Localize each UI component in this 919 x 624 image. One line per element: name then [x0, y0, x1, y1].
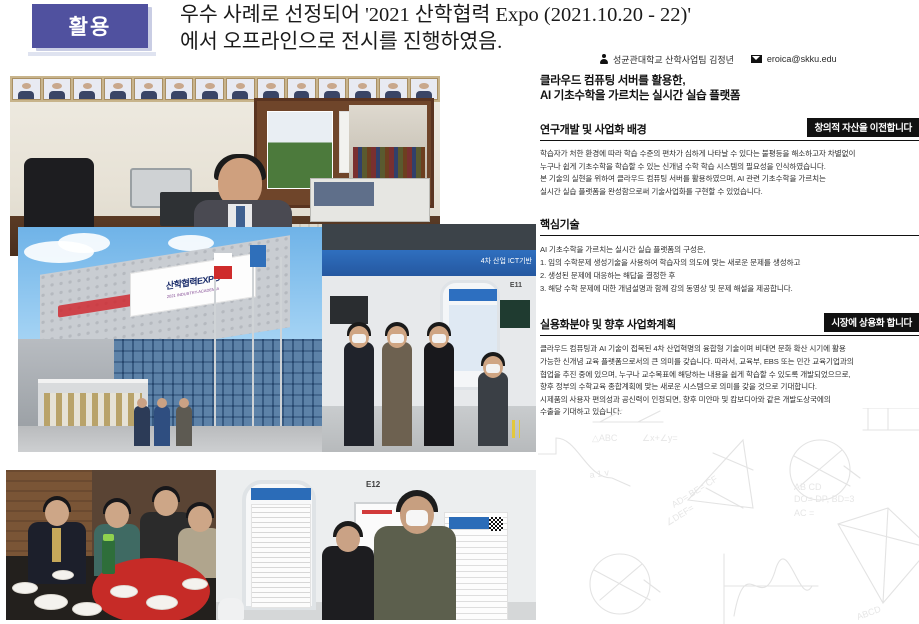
report-title-line2: AI 기초수학을 가르치는 실시간 실습 플랫폼 — [540, 89, 919, 104]
body-line: 1. 임의 수학문제 생성기술을 사용하여 학습자의 의도에 맞는 새로운 문제… — [540, 256, 919, 269]
body-line: 가능한 신개념 교육 플랫폼으로서의 큰 의미를 갖습니다. 따라서, 교육부,… — [540, 356, 919, 369]
exhibition-booth-photo: 4차 산업 ICT기반 E11 — [322, 224, 536, 452]
section-rule — [540, 235, 919, 236]
section-core-technology: 핵심기술 AI 기초수학을 가르치는 실시간 실습 플랫폼의 구성은, 1. 임… — [540, 216, 919, 295]
body-line: 2. 생성된 문제에 대응하는 해답을 결정한 후 — [540, 269, 919, 282]
section-body: 클라우드 컴퓨팅과 AI 기술이 접목된 4차 산업혁명의 융합형 기술이며 비… — [540, 343, 919, 419]
section-title: 실용화분야 및 향후 사업화계획 — [540, 316, 676, 332]
section-background: 연구개발 및 사업화 배경 창의적 자산을 이전합니다 학습자가 처한 환경에 … — [540, 118, 919, 198]
body-line: 실시간 실습 플랫폼을 완성함으로써 기술사업화를 구현할 수 있었습니다. — [540, 186, 919, 199]
section-commercialization: 실용화분야 및 향후 사업화계획 시장에 상용화 합니다 클라우드 컴퓨팅과 A… — [540, 313, 919, 419]
mail-icon — [751, 55, 762, 63]
photo-collage: 산학협력EXPO 2021 INDUSTRY-ACADEMIA 4차 산업 IC… — [0, 72, 536, 624]
badge-underline — [28, 52, 156, 56]
body-line: 수출을 기대하고 있습니다. — [540, 406, 919, 419]
section-rule — [540, 140, 919, 141]
section-body: AI 기초수학을 가르치는 실시간 실습 플랫폼의 구성은, 1. 임의 수학문… — [540, 243, 919, 295]
dinner-photo — [6, 470, 218, 620]
report-title: 클라우드 컴퓨팅 서버를 활용한, AI 기초수학을 가르치는 실시간 실습 플… — [540, 74, 919, 104]
poster-page: 활용 우수 사례로 선정되어 '2021 산학협력 Expo (2021.10.… — [0, 0, 919, 624]
section-tag: 창의적 자산을 이전합니다 — [807, 118, 919, 137]
body-line: 3. 해당 수학 문제에 대한 개념설명과 함께 강의 동영상 및 문제 해설을… — [540, 282, 919, 295]
page-title: 우수 사례로 선정되어 '2021 산학협력 Expo (2021.10.20 … — [180, 2, 800, 56]
body-line: 협업을 추진 중에 있으며, 누구나 교수목표에 해당하는 내용을 쉽게 학습할… — [540, 369, 919, 382]
booth-label-e12: E12 — [366, 480, 380, 489]
page-title-line1: 우수 사례로 선정되어 '2021 산학협력 Expo (2021.10.20 … — [180, 4, 691, 26]
section-rule — [540, 335, 919, 336]
report-title-line1: 클라우드 컴퓨팅 서버를 활용한, — [540, 74, 919, 89]
byline: 성균관대학교 산학사업팀 김정년 eroica@skku.edu — [600, 52, 915, 66]
byline-email: eroica@skku.edu — [767, 54, 837, 64]
booth-display-photo: E12 — [216, 470, 536, 620]
body-line: 학습자가 처한 환경에 따라 학습 수준의 편차가 심하게 나타날 수 있다는 … — [540, 148, 919, 161]
body-line: 누구나 쉽게 기초수학을 학습할 수 있는 신개념 수학 학습 시스템의 필요성… — [540, 161, 919, 174]
section-title: 핵심기술 — [540, 216, 579, 232]
body-line: 본 기술의 실현을 위하여 클라우드 컴퓨팅 서버를 활용하였으며, AI 관련… — [540, 173, 919, 186]
body-line: 시제품의 사용자 편의성과 공신력이 인정되면, 향후 미얀마 및 캄보디아와 … — [540, 394, 919, 407]
section-body: 학습자가 처한 환경에 따라 학습 수준의 편차가 심하게 나타날 수 있다는 … — [540, 148, 919, 198]
content-panel: 클라우드 컴퓨팅 서버를 활용한, AI 기초수학을 가르치는 실시간 실습 플… — [540, 74, 919, 624]
page-header: 활용 우수 사례로 선정되어 '2021 산학협력 Expo (2021.10.… — [0, 0, 919, 70]
section-badge: 활용 — [32, 4, 148, 48]
byline-author: 성균관대학교 산학사업팀 김정년 — [613, 53, 734, 66]
body-line: 향후 정부의 수학교육 종합계획에 맞는 새로운 시스템으로 의미를 갖을 것으… — [540, 381, 919, 394]
body-line: 클라우드 컴퓨팅과 AI 기술이 접목된 4차 산업혁명의 융합형 기술이며 비… — [540, 343, 919, 356]
expo-building-photo: 산학협력EXPO 2021 INDUSTRY-ACADEMIA — [18, 227, 328, 452]
booth-label-e11: E11 — [510, 282, 522, 289]
section-title: 연구개발 및 사업화 배경 — [540, 121, 646, 137]
booth-sign-text: 4차 산업 ICT기반 — [481, 256, 532, 266]
section-tag: 시장에 상용화 합니다 — [824, 313, 919, 332]
person-icon — [600, 54, 608, 64]
body-line: AI 기초수학을 가르치는 실시간 실습 플랫폼의 구성은, — [540, 243, 919, 256]
